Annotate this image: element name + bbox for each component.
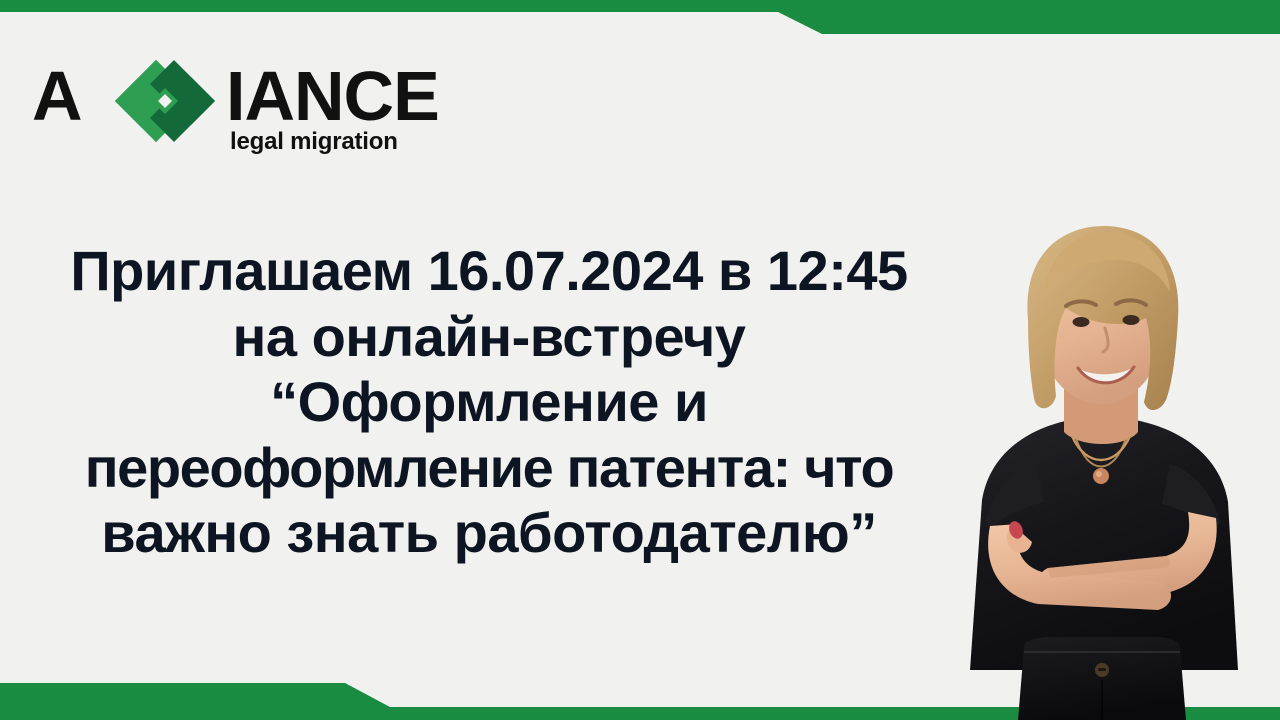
eye-left <box>1073 317 1090 327</box>
button-slot <box>1098 668 1106 671</box>
headline-line-3: “Оформление и <box>14 369 964 435</box>
pendant-highlight <box>1096 471 1102 477</box>
headline-line-4: переоформление патента: что <box>14 435 964 501</box>
presenter-portrait <box>920 200 1280 720</box>
headline-line-1: Приглашаем 16.07.2024 в 12:45 <box>14 238 964 304</box>
headline-line-2: на онлайн-встречу <box>14 304 964 370</box>
logo-wordmark: IANCE <box>226 57 439 135</box>
aliance-diamond-mark-icon <box>96 60 215 147</box>
slide-root: A IANCE legal m <box>0 0 1280 720</box>
eye-right <box>1123 315 1140 325</box>
logo-tagline: legal migration <box>230 128 398 155</box>
page-title: Приглашаем 16.07.2024 в 12:45 на онлайн-… <box>14 238 964 566</box>
headline-line-5: важно знать работодателю” <box>14 500 964 566</box>
logo-letter-a: A <box>32 57 82 135</box>
brand-logo-svg: A IANCE legal m <box>30 48 450 156</box>
presenter-portrait-svg <box>920 200 1280 720</box>
top-green-banner <box>0 0 1280 34</box>
brand-logo[interactable]: A IANCE legal m <box>30 48 450 156</box>
